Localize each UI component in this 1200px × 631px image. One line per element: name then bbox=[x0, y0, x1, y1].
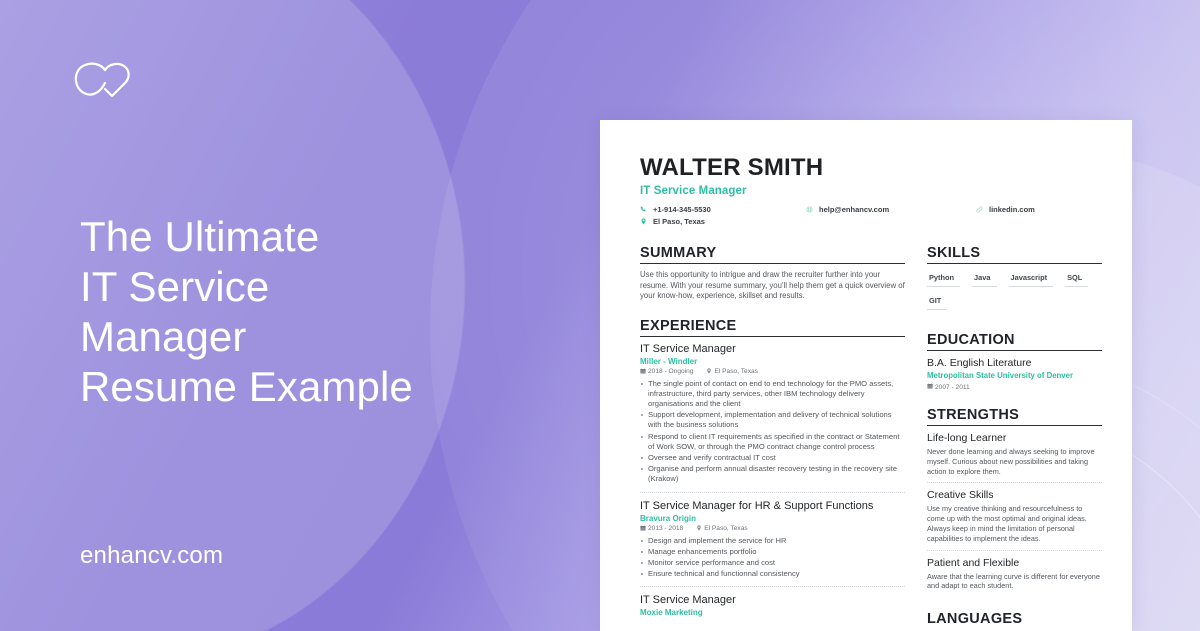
section-education: EDUCATION B.A. English Literature Metrop… bbox=[927, 332, 1102, 391]
job-location-value: El Paso, Texas bbox=[704, 525, 748, 532]
job-location: El Paso, Texas bbox=[696, 525, 748, 533]
promo-headline: The Ultimate IT Service Manager Resume E… bbox=[80, 212, 540, 412]
job-bullet: Monitor service performance and cost bbox=[640, 558, 905, 568]
experience-entry: IT Service Manager Moxie Marketing bbox=[640, 586, 905, 625]
strength-description: Never done learning and always seeking t… bbox=[927, 447, 1102, 476]
resume-main-column: SUMMARY Use this opportunity to intrigue… bbox=[640, 229, 905, 629]
strength-title: Patient and Flexible bbox=[927, 557, 1102, 570]
contact-location: El Paso, Texas bbox=[640, 217, 806, 226]
job-company: Bravura Origin bbox=[640, 514, 905, 523]
candidate-role: IT Service Manager bbox=[640, 185, 1098, 197]
skill-chip: Javascript bbox=[1009, 270, 1054, 287]
skills-heading: SKILLS bbox=[927, 245, 1102, 263]
job-title: IT Service Manager bbox=[640, 343, 905, 356]
contact-linkedin-value: linkedin.com bbox=[989, 205, 1035, 214]
promo-headline-line-1: The Ultimate bbox=[80, 212, 540, 262]
strength-title: Life-long Learner bbox=[927, 432, 1102, 445]
education-divider bbox=[927, 350, 1102, 351]
resume-side-column: SKILLS Python Java Javascript SQL GIT ED… bbox=[927, 229, 1102, 629]
promo-headline-line-3: Manager bbox=[80, 312, 540, 362]
job-title: IT Service Manager bbox=[640, 594, 905, 607]
skill-chip: Python bbox=[927, 270, 960, 287]
job-bullet: Manage enhancements portfolio bbox=[640, 547, 905, 557]
job-company: Miller - Windler bbox=[640, 357, 905, 366]
job-bullet: Oversee and verify contractual IT cost bbox=[640, 453, 905, 463]
contact-linkedin: linkedin.com bbox=[976, 205, 1035, 214]
job-bullet: Design and implement the service for HR bbox=[640, 536, 905, 546]
job-dates: 2013 - 2018 bbox=[640, 525, 683, 533]
skills-divider bbox=[927, 263, 1102, 264]
contact-row-2: El Paso, Texas bbox=[640, 217, 1098, 226]
education-school: Metropolitan State University of Denver bbox=[927, 371, 1102, 381]
education-entry: B.A. English Literature Metropolitan Sta… bbox=[927, 357, 1102, 391]
phone-icon bbox=[640, 206, 650, 213]
promo-panel: The Ultimate IT Service Manager Resume E… bbox=[0, 0, 600, 631]
strengths-heading: STRENGTHS bbox=[927, 407, 1102, 425]
job-dates: 2018 - Ongoing bbox=[640, 368, 693, 376]
languages-heading: LANGUAGES bbox=[927, 611, 1102, 629]
education-dates-value: 2007 - 2011 bbox=[935, 384, 970, 391]
skill-chip: GIT bbox=[927, 293, 947, 310]
job-dates-value: 2018 - Ongoing bbox=[648, 368, 693, 375]
strength-description: Use my creative thinking and resourceful… bbox=[927, 504, 1102, 543]
experience-divider bbox=[640, 336, 905, 337]
job-meta: 2018 - Ongoing El Paso, Texas bbox=[640, 368, 905, 376]
experience-entry: IT Service Manager Miller - Windler 2018… bbox=[640, 343, 905, 492]
skills-list: Python Java Javascript SQL GIT bbox=[927, 270, 1102, 316]
section-languages: LANGUAGES bbox=[927, 611, 1102, 629]
skill-chip: SQL bbox=[1065, 270, 1088, 287]
experience-entry: IT Service Manager for HR & Support Func… bbox=[640, 492, 905, 587]
experience-heading: EXPERIENCE bbox=[640, 318, 905, 336]
job-title: IT Service Manager for HR & Support Func… bbox=[640, 500, 905, 513]
strength-description: Aware that the learning curve is differe… bbox=[927, 572, 1102, 592]
brand-domain[interactable]: enhancv.com bbox=[80, 542, 223, 570]
job-bullets: Design and implement the service for HR … bbox=[640, 536, 905, 580]
job-bullet: Ensure technical and functionnal consist… bbox=[640, 569, 905, 579]
promo-headline-line-2: IT Service bbox=[80, 262, 540, 312]
job-location: El Paso, Texas bbox=[706, 368, 758, 376]
education-dates: 2007 - 2011 bbox=[927, 383, 1102, 391]
education-heading: EDUCATION bbox=[927, 332, 1102, 350]
strength-title: Creative Skills bbox=[927, 489, 1102, 502]
summary-text: Use this opportunity to intrigue and dra… bbox=[640, 270, 905, 302]
section-experience: EXPERIENCE IT Service Manager Miller - W… bbox=[640, 318, 905, 626]
resume-header: WALTER SMITH IT Service Manager +1-914-3… bbox=[640, 156, 1098, 226]
job-bullet: Support development, implementation and … bbox=[640, 410, 905, 430]
contact-phone: +1-914-345-5530 bbox=[640, 205, 806, 214]
section-summary: SUMMARY Use this opportunity to intrigue… bbox=[640, 245, 905, 302]
strength-entry: Patient and Flexible Aware that the lear… bbox=[927, 550, 1102, 598]
education-degree: B.A. English Literature bbox=[927, 357, 1102, 370]
calendar-icon bbox=[640, 525, 646, 533]
job-bullet: The single point of contact on end to en… bbox=[640, 379, 905, 410]
promo-headline-line-4: Resume Example bbox=[80, 362, 540, 412]
contact-email-value: help@enhancv.com bbox=[819, 205, 889, 214]
job-bullets: The single point of contact on end to en… bbox=[640, 379, 905, 485]
promo-banner: The Ultimate IT Service Manager Resume E… bbox=[0, 0, 1200, 631]
resume-preview-card[interactable]: WALTER SMITH IT Service Manager +1-914-3… bbox=[600, 120, 1132, 631]
strength-entry: Creative Skills Use my creative thinking… bbox=[927, 482, 1102, 549]
candidate-name: WALTER SMITH bbox=[640, 156, 1098, 180]
job-location-value: El Paso, Texas bbox=[714, 368, 758, 375]
section-skills: SKILLS Python Java Javascript SQL GIT bbox=[927, 245, 1102, 316]
section-strengths: STRENGTHS Life-long Learner Never done l… bbox=[927, 407, 1102, 597]
job-meta: 2013 - 2018 El Paso, Texas bbox=[640, 525, 905, 533]
contact-email: help@enhancv.com bbox=[806, 205, 976, 214]
summary-divider bbox=[640, 263, 905, 264]
job-bullet: Organise and perform annual disaster rec… bbox=[640, 464, 905, 484]
job-bullet: Respond to client IT requirements as spe… bbox=[640, 432, 905, 452]
calendar-icon bbox=[927, 383, 933, 391]
enhancv-infinity-logo-icon bbox=[68, 58, 140, 106]
contact-location-value: El Paso, Texas bbox=[653, 217, 705, 226]
job-dates-value: 2013 - 2018 bbox=[648, 525, 683, 532]
location-pin-icon bbox=[640, 218, 650, 225]
contact-phone-value: +1-914-345-5530 bbox=[653, 205, 711, 214]
contact-row-1: +1-914-345-5530 help@enhancv.com linkedi… bbox=[640, 205, 1098, 214]
strengths-divider bbox=[927, 425, 1102, 426]
summary-heading: SUMMARY bbox=[640, 245, 905, 263]
skill-chip: Java bbox=[972, 270, 996, 287]
location-pin-icon bbox=[706, 368, 712, 376]
calendar-icon bbox=[640, 368, 646, 376]
globe-icon bbox=[806, 206, 816, 213]
link-icon bbox=[976, 206, 986, 213]
strength-entry: Life-long Learner Never done learning an… bbox=[927, 432, 1102, 482]
location-pin-icon bbox=[696, 525, 702, 533]
job-company: Moxie Marketing bbox=[640, 608, 905, 617]
